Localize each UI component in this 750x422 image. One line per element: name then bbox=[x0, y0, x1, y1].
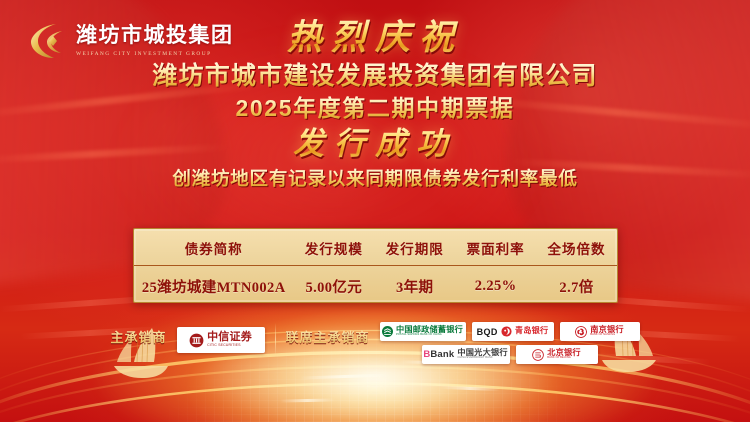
everbright-wordmark-rest: Bank bbox=[430, 349, 454, 360]
joint-underwriters-label: 联席主承销商 bbox=[286, 318, 370, 346]
lead-underwriter-label: 主承销商 bbox=[110, 318, 166, 346]
cell-subscription-multiple: 2.7倍 bbox=[536, 266, 617, 304]
col-header-bond-name: 债券简称 bbox=[134, 229, 293, 266]
light-streak bbox=[280, 399, 335, 403]
psbc-name-en: POSTAL SAVINGS BANK OF CHINA bbox=[396, 334, 463, 337]
light-streak bbox=[440, 386, 500, 391]
cell-coupon-rate: 2.25% bbox=[455, 266, 536, 304]
brand-name-cn: 潍坊市城投集团 bbox=[76, 25, 234, 47]
table-header-row: 债券简称 发行规模 发行期限 票面利率 全场倍数 bbox=[134, 229, 617, 266]
citic-circular-emblem bbox=[189, 333, 204, 348]
bond-details-table: 债券简称 发行规模 发行期限 票面利率 全场倍数 25潍坊城建MTN002A 5… bbox=[133, 228, 618, 303]
bqd-wordmark: BQD bbox=[477, 327, 498, 337]
headline-issue-name: 2025年度第二期中期票据 bbox=[0, 94, 750, 123]
underwriter-divider bbox=[275, 323, 276, 357]
underwriters-block: 主承销商 中信证券 CITIC SECURITIES 联席主承销商 bbox=[0, 318, 750, 378]
cell-issue-size: 5.00亿元 bbox=[293, 266, 374, 304]
cell-issue-term: 3年期 bbox=[374, 266, 455, 304]
headline-record-note: 创潍坊地区有记录以来同期限债券发行利率最低 bbox=[0, 167, 750, 190]
cell-bond-name: 25潍坊城建MTN002A bbox=[134, 266, 293, 304]
bank-logo-psbc: 中国邮政储蓄银行 POSTAL SAVINGS BANK OF CHINA bbox=[380, 322, 466, 341]
crescent-diamond-emblem bbox=[26, 20, 68, 62]
bqd-name-cn: 青岛银行 bbox=[515, 327, 549, 336]
brand-name-en: WEIFANG CITY INVESTMENT GROUP bbox=[76, 51, 234, 57]
bqd-red-circle-emblem bbox=[501, 326, 512, 337]
citic-name-en: CITIC SECURITIES bbox=[207, 344, 252, 348]
bank-logo-nanjing: 南京银行 BANK OF NANJING bbox=[560, 322, 640, 341]
everbright-name-en: CHINA EVERBRIGHT BANK bbox=[457, 357, 507, 360]
joint-logo-row-1: 中国邮政储蓄银行 POSTAL SAVINGS BANK OF CHINA BQ… bbox=[380, 322, 640, 341]
bank-logo-bqd: BQD 青岛银行 bbox=[472, 322, 554, 341]
table-row: 25潍坊城建MTN002A 5.00亿元 3年期 2.25% 2.7倍 bbox=[134, 266, 617, 304]
celebration-poster: 潍坊市城投集团 WEIFANG CITY INVESTMENT GROUP 热烈… bbox=[0, 0, 750, 422]
nanjing-rosette-emblem bbox=[575, 326, 587, 338]
nanjing-name-en: BANK OF NANJING bbox=[590, 334, 624, 337]
psbc-green-emblem bbox=[382, 326, 393, 337]
beijing-name-en: BANK OF BEIJING bbox=[547, 357, 581, 360]
col-header-subscription-multiple: 全场倍数 bbox=[536, 229, 617, 266]
col-header-issue-size: 发行规模 bbox=[293, 229, 374, 266]
headline-company-name: 潍坊市城市建设发展投资集团有限公司 bbox=[0, 61, 750, 92]
joint-logo-row-2: BBank 中国光大银行 CHINA EVERBRIGHT BANK 北京银行 bbox=[422, 345, 598, 364]
bank-logo-everbright: BBank 中国光大银行 CHINA EVERBRIGHT BANK bbox=[422, 345, 510, 364]
bank-logo-beijing: 北京银行 BANK OF BEIJING bbox=[516, 345, 598, 364]
lead-underwriter-logo-citic: 中信证券 CITIC SECURITIES bbox=[177, 327, 265, 353]
beijing-circular-emblem bbox=[532, 349, 544, 361]
col-header-coupon-rate: 票面利率 bbox=[455, 229, 536, 266]
headline-success: 发行成功 bbox=[0, 126, 750, 162]
joint-underwriter-logos: 中国邮政储蓄银行 POSTAL SAVINGS BANK OF CHINA BQ… bbox=[380, 318, 640, 364]
col-header-issue-term: 发行期限 bbox=[374, 229, 455, 266]
brand-logo: 潍坊市城投集团 WEIFANG CITY INVESTMENT GROUP bbox=[26, 20, 234, 62]
everbright-wordmark: BBank bbox=[423, 349, 454, 360]
